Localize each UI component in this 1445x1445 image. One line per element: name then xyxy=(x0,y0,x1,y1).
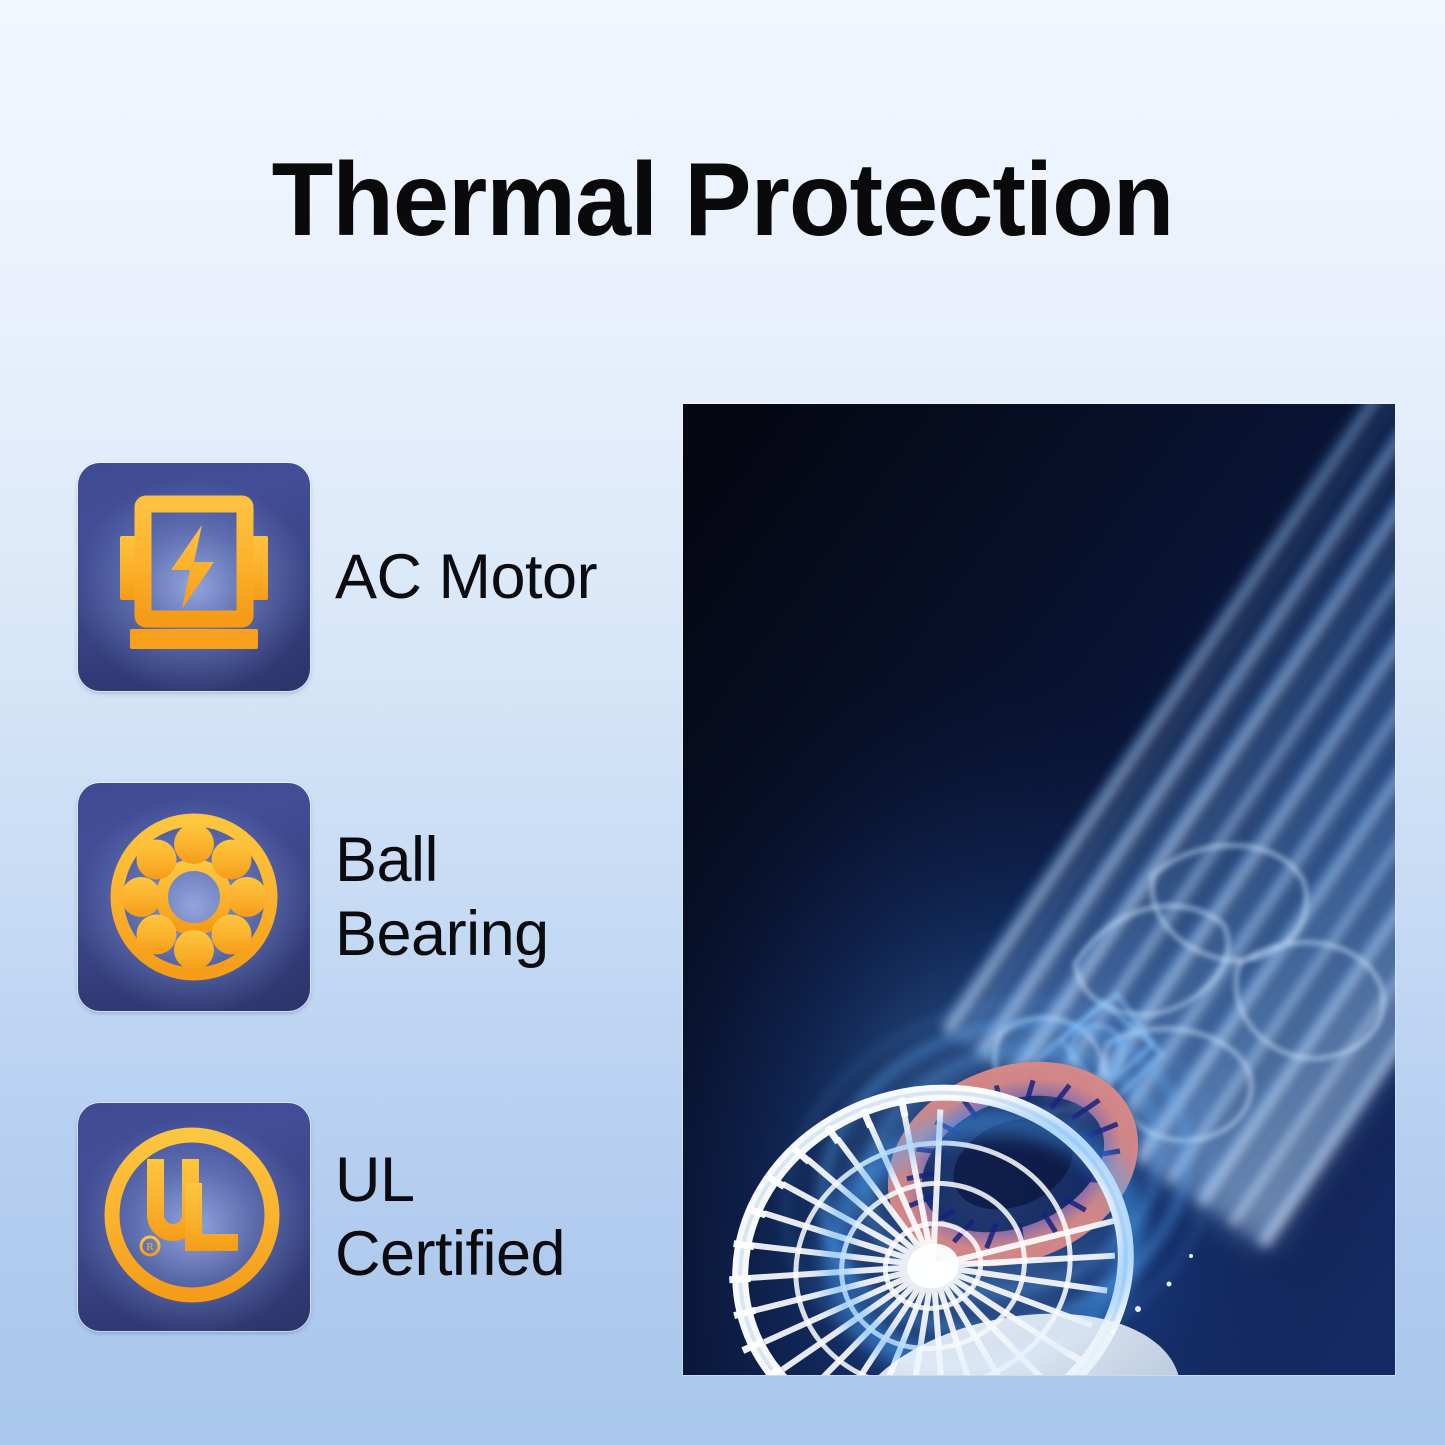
page-title: Thermal Protection xyxy=(22,146,1424,255)
product-image xyxy=(683,404,1395,1375)
feature-label-ac-motor: AC Motor xyxy=(335,463,675,691)
product-feature-card: Thermal Protection xyxy=(0,0,1445,1445)
ac-motor-icon xyxy=(78,463,310,691)
feature-item-ball-bearing: Ball Bearing xyxy=(78,783,678,1015)
ul-certified-icon-tile: R xyxy=(78,1103,310,1331)
feature-item-ul-certified: R UL Certified xyxy=(78,1103,678,1335)
feature-list: AC Motor xyxy=(78,463,678,1335)
ul-certified-icon: R xyxy=(78,1103,310,1331)
ball-bearing-icon-tile xyxy=(78,783,310,1011)
ac-motor-icon-tile xyxy=(78,463,310,691)
ball-bearing-icon xyxy=(78,783,310,1011)
svg-text:R: R xyxy=(146,1241,154,1253)
fan-motor-exploded-view xyxy=(683,404,1395,1375)
feature-label-ul-certified: UL Certified xyxy=(335,1103,675,1331)
feature-item-ac-motor: AC Motor xyxy=(78,463,678,695)
feature-label-ball-bearing: Ball Bearing xyxy=(335,783,675,1011)
